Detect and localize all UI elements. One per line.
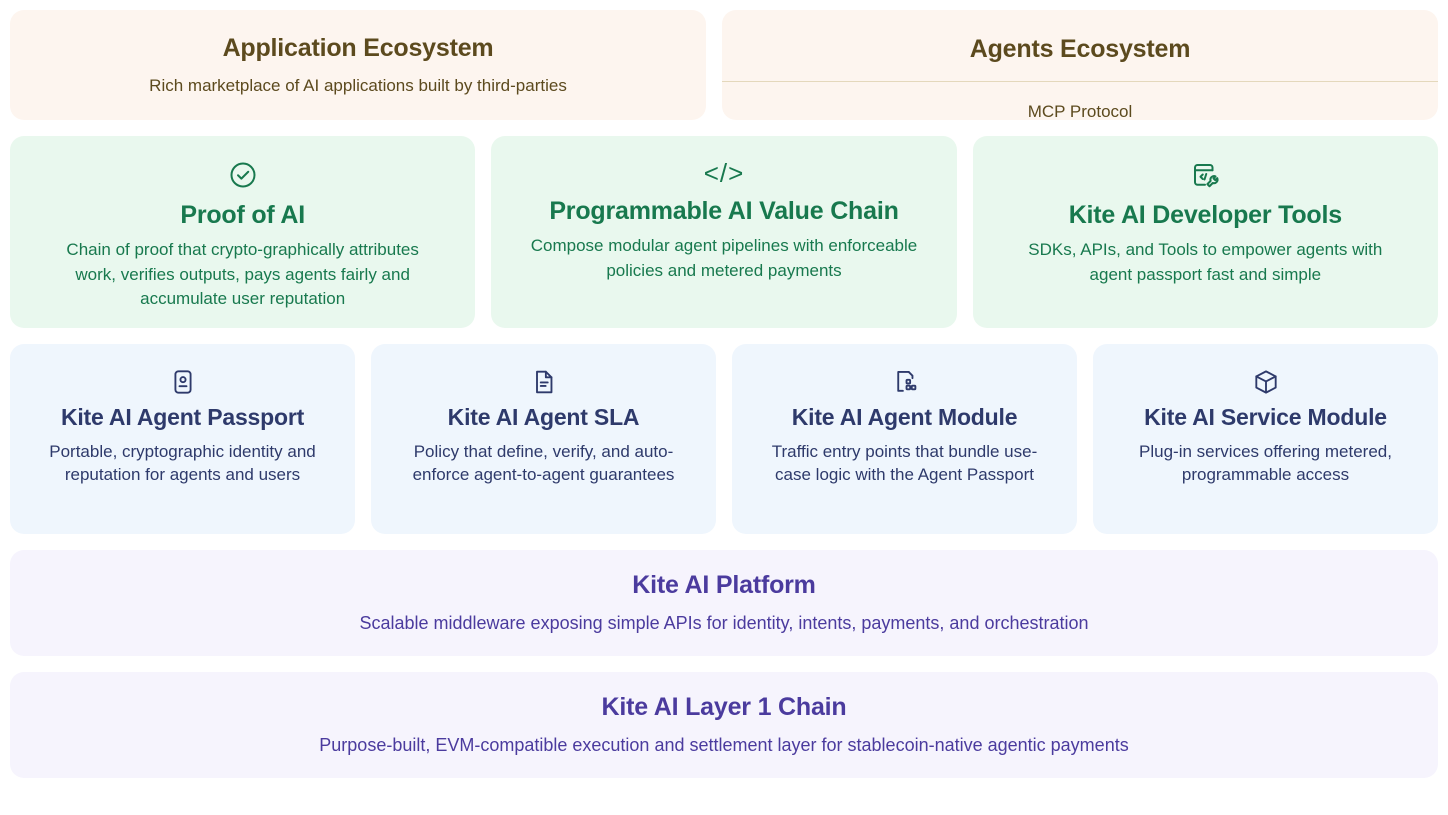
pillar-card-developer-tools[interactable]: Kite AI Developer Tools SDKs, APIs, and … (973, 136, 1438, 328)
module-card-agent-sla[interactable]: Kite AI Agent SLA Policy that define, ve… (371, 344, 716, 534)
layer1-row: Kite AI Layer 1 Chain Purpose-built, EVM… (10, 672, 1438, 778)
module-subtitle: Plug-in services offering metered, progr… (1116, 440, 1416, 488)
agents-ecosystem-title: Agents Ecosystem (970, 35, 1191, 63)
foundation-title: Kite AI Layer 1 Chain (602, 693, 847, 722)
module-title: Kite AI Agent Passport (61, 404, 304, 432)
pillar-title: Proof of AI (180, 200, 305, 230)
module-title: Kite AI Agent SLA (448, 404, 640, 432)
pillar-subtitle: Compose modular agent pipelines with enf… (529, 234, 919, 283)
pillar-title: Programmable AI Value Chain (549, 196, 898, 226)
pillar-card-programmable-value-chain[interactable]: </> Programmable AI Value Chain Compose … (491, 136, 956, 328)
module-subtitle: Traffic entry points that bundle use-cas… (755, 440, 1055, 488)
module-subtitle: Policy that define, verify, and auto-enf… (394, 440, 694, 488)
pillar-subtitle: Chain of proof that crypto-graphically a… (48, 238, 438, 312)
cube-3d-icon (1252, 368, 1280, 396)
agents-ecosystem-subtitle: MCP Protocol (722, 82, 1438, 122)
developer-tools-icon (1190, 160, 1220, 190)
application-ecosystem-subtitle: Rich marketplace of AI applications buil… (149, 75, 567, 97)
pillar-title: Kite AI Developer Tools (1069, 200, 1342, 230)
foundation-title: Kite AI Platform (632, 571, 815, 600)
agents-ecosystem-card[interactable]: Agents Ecosystem MCP Protocol (722, 10, 1438, 120)
module-card-service-module[interactable]: Kite AI Service Module Plug-in services … (1093, 344, 1438, 534)
foundation-card-layer1-chain[interactable]: Kite AI Layer 1 Chain Purpose-built, EVM… (10, 672, 1438, 778)
pillar-card-proof-of-ai[interactable]: Proof of AI Chain of proof that crypto-g… (10, 136, 475, 328)
module-row: Kite AI Agent Passport Portable, cryptog… (10, 344, 1438, 534)
module-card-agent-passport[interactable]: Kite AI Agent Passport Portable, cryptog… (10, 344, 355, 534)
foundation-subtitle: Scalable middleware exposing simple APIs… (359, 612, 1088, 635)
architecture-stack-diagram: Application Ecosystem Rich marketplace o… (0, 0, 1448, 815)
foundation-subtitle: Purpose-built, EVM-compatible execution … (319, 734, 1128, 757)
module-blueprint-icon (891, 368, 919, 396)
agents-ecosystem-header: Agents Ecosystem (722, 10, 1438, 82)
platform-row: Kite AI Platform Scalable middleware exp… (10, 550, 1438, 656)
application-ecosystem-card[interactable]: Application Ecosystem Rich marketplace o… (10, 10, 706, 120)
pillar-row: Proof of AI Chain of proof that crypto-g… (10, 136, 1438, 328)
application-ecosystem-title: Application Ecosystem (223, 33, 494, 64)
module-card-agent-module[interactable]: Kite AI Agent Module Traffic entry point… (732, 344, 1077, 534)
document-text-icon (530, 368, 558, 396)
module-title: Kite AI Service Module (1144, 404, 1387, 432)
ecosystem-row: Application Ecosystem Rich marketplace o… (10, 10, 1438, 120)
check-circle-icon (228, 160, 258, 190)
foundation-card-platform[interactable]: Kite AI Platform Scalable middleware exp… (10, 550, 1438, 656)
pillar-subtitle: SDKs, APIs, and Tools to empower agents … (1010, 238, 1400, 287)
module-subtitle: Portable, cryptographic identity and rep… (33, 440, 333, 488)
module-title: Kite AI Agent Module (792, 404, 1018, 432)
code-brackets-icon: </> (704, 160, 745, 186)
passport-id-icon (169, 368, 197, 396)
